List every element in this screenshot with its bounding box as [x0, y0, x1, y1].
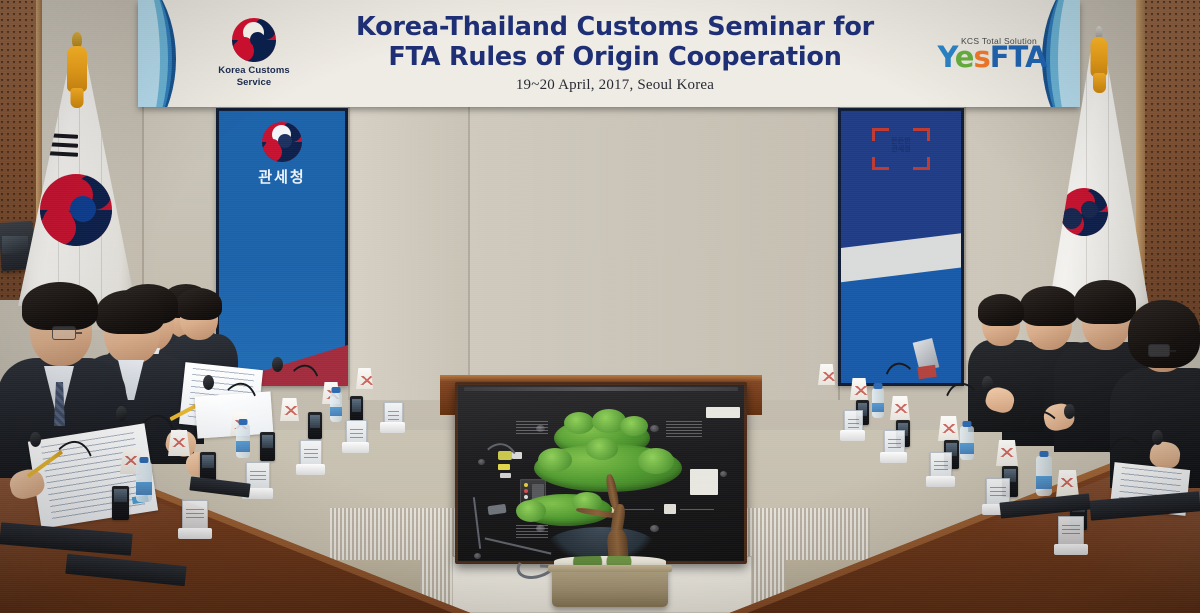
banner-title-line1: Korea-Thailand Customs Seminar for [308, 13, 922, 43]
microphone-head-left-2 [116, 406, 127, 421]
water-bottle-left-1[interactable] [136, 462, 152, 502]
name-card-base-right-5 [840, 430, 865, 441]
gold-tassel [67, 46, 87, 92]
interpretation-receiver-left-3[interactable] [260, 432, 275, 461]
left-flag-pole-top [18, 32, 136, 92]
name-card-base-right-3 [926, 476, 955, 487]
eyeglasses-icon [52, 326, 76, 340]
monitor-cable-1 [472, 440, 524, 510]
kcs-logo-label: Korea Customs Service [218, 65, 290, 88]
paper-cup-right-1[interactable] [1056, 470, 1079, 497]
name-card-base-right-4 [880, 452, 907, 463]
bracket-text-line2: 관세청 [891, 145, 910, 153]
monitor-screw-7 [720, 471, 727, 477]
monitor-label-top-right [706, 407, 740, 418]
paper-cup-right-2[interactable] [996, 440, 1018, 466]
yesfta-letter-s: s [973, 40, 989, 74]
banner-title-line2: FTA Rules of Origin Cooperation [308, 43, 922, 73]
name-card-base-left-4 [342, 442, 369, 453]
paper-cup-right-5[interactable] [850, 378, 868, 400]
microphone-head-right-2 [1064, 404, 1075, 419]
paper-cup-left-2[interactable] [168, 430, 190, 456]
eyeglasses-icon-right [1148, 344, 1170, 357]
kcs-banner-korean-text: 관세청 [216, 166, 348, 187]
bonsai-pine-tree [520, 418, 700, 613]
yesfta-letter-e: e [955, 40, 974, 74]
microphone-head-right-3 [982, 376, 993, 391]
kcs-vertical-banner: 관세청 [216, 108, 348, 386]
name-card-right-1 [1058, 516, 1084, 546]
name-card-left-5 [384, 402, 403, 424]
monitor-cable-2 [473, 497, 481, 549]
paper-cup-right-3[interactable] [938, 416, 959, 441]
paper-cup-left-4[interactable] [280, 398, 299, 421]
name-card-left-4 [346, 420, 367, 444]
taegeuk-icon [232, 18, 276, 62]
yesfta-logo: KCS Total Solution YesFTA [922, 36, 1062, 72]
microphone-head-left-3 [203, 375, 214, 390]
paper-cup-left-6[interactable] [356, 368, 373, 389]
name-card-base-left-1 [178, 528, 212, 539]
interpretation-receiver-left-4[interactable] [308, 412, 322, 439]
customs-vertical-banner: 든든한 관세청 [838, 108, 964, 386]
seminar-banner: Korea Customs Service Korea-Thailand Cus… [138, 0, 1080, 107]
bracket-frame-icon: 든든한 관세청 [872, 128, 930, 170]
head-table-lip [440, 375, 762, 382]
monitor-top-strip [464, 387, 738, 391]
gold-tassel-right [1091, 37, 1108, 77]
red-item-right [917, 365, 936, 379]
yesfta-wordmark: YesFTA [922, 43, 1062, 72]
name-card-left-1 [182, 500, 208, 530]
interpretation-receiver-left-1[interactable] [112, 486, 129, 520]
side-monitor-screen [2, 236, 28, 254]
bracket-text-line1: 든든한 [891, 137, 910, 145]
paper-cup-right-6[interactable] [818, 364, 835, 385]
water-bottle-right-2[interactable] [960, 426, 974, 460]
agency-flag-taegeuk-icon [1060, 188, 1108, 236]
water-bottle-left-3[interactable] [330, 392, 342, 422]
name-card-base-left-5 [380, 422, 405, 433]
yesfta-letters-fta: FTA [990, 40, 1047, 74]
microphone-head-left-4 [272, 357, 283, 372]
interpretation-receiver-left-5[interactable] [350, 396, 363, 421]
water-bottle-right-3[interactable] [872, 388, 884, 418]
banner-taegeuk-icon [262, 122, 302, 162]
banner-title-block: Korea-Thailand Customs Seminar for FTA R… [308, 13, 922, 95]
microphone-head-left-1 [30, 432, 41, 447]
seminar-room-photo: Korea Customs Service Korea-Thailand Cus… [0, 0, 1200, 613]
name-card-base-right-1 [1054, 544, 1088, 555]
name-card-right-5 [844, 410, 863, 432]
korea-customs-service-logo: Korea Customs Service [194, 18, 314, 88]
bonsai-pot [552, 565, 668, 607]
name-card-base-left-3 [296, 464, 325, 475]
yesfta-letter-y: Y [937, 40, 954, 74]
microphone-head-right-1 [1152, 430, 1163, 445]
monitor-screw-6 [474, 553, 481, 559]
banner-subtitle: 19~20 April, 2017, Seoul Korea [308, 77, 922, 94]
name-card-left-3 [300, 440, 322, 466]
water-bottle-right-1[interactable] [1036, 456, 1052, 496]
name-card-right-3 [930, 452, 952, 478]
paper-cup-right-4[interactable] [890, 396, 910, 420]
water-bottle-left-2[interactable] [236, 424, 250, 458]
name-card-right-4 [884, 430, 905, 454]
flag-taegeuk-icon [40, 174, 112, 246]
